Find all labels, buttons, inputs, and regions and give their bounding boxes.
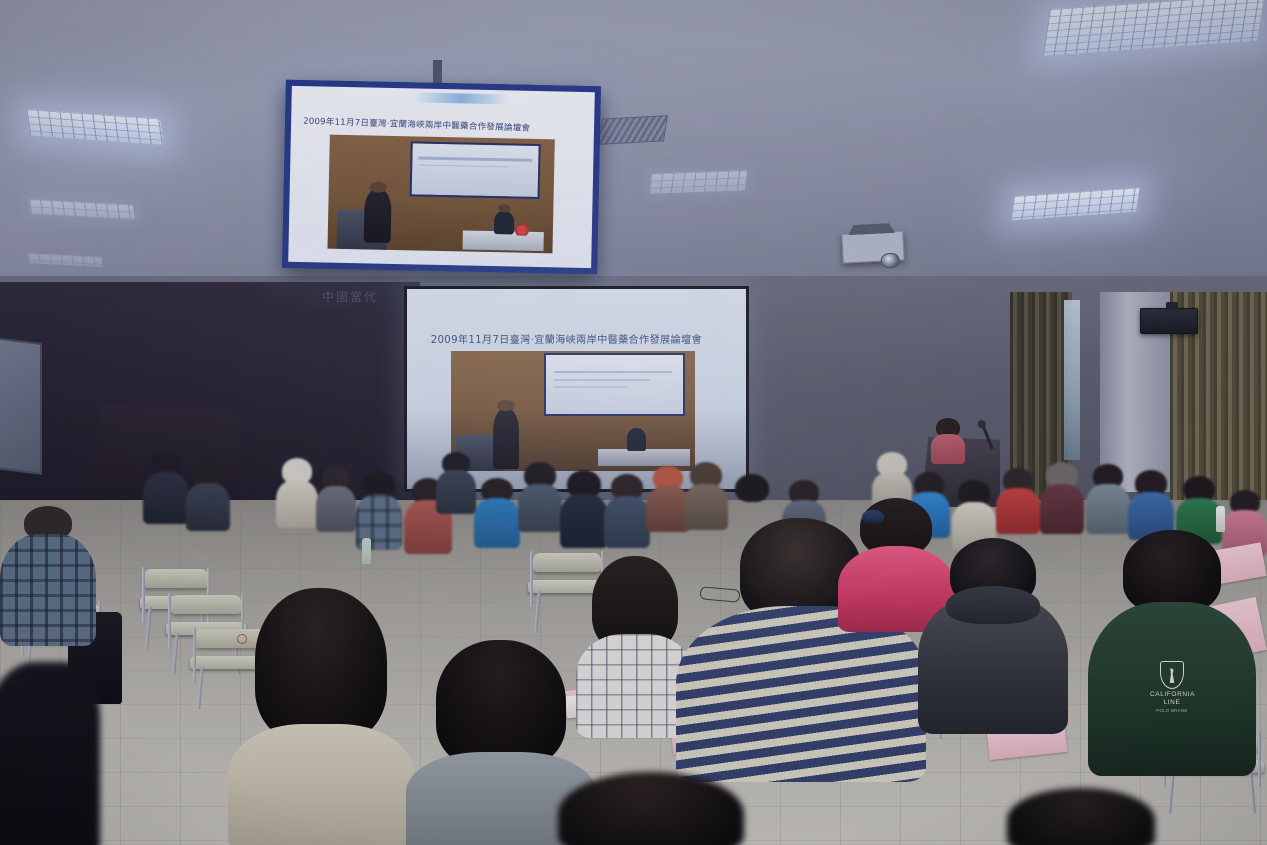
list-item xyxy=(474,478,520,544)
torso xyxy=(474,498,520,548)
torso xyxy=(316,486,356,532)
torso xyxy=(436,470,476,514)
drape-banner-text: 中國當代 xyxy=(322,288,378,305)
torso xyxy=(1086,484,1130,534)
shield-icon xyxy=(1160,661,1184,689)
projector-lens xyxy=(880,253,900,269)
person-foreground-head xyxy=(556,772,746,845)
tshirt-line-2: LINE xyxy=(1150,699,1194,707)
tv-screen: 2009年11月7日臺灣·宜蘭海峽兩岸中醫藥合作發展論壇會 xyxy=(288,86,595,268)
person-foreground-right xyxy=(1006,788,1156,845)
hoodie-hood xyxy=(946,586,1040,624)
chair-rail xyxy=(142,567,145,623)
ceiling-projector xyxy=(841,230,904,263)
woman-cream-sweater xyxy=(228,588,414,844)
tshirt-print: CALIFORNIA LINE POLO BRAND xyxy=(1150,661,1194,715)
chair-rail xyxy=(168,593,171,649)
torso xyxy=(143,472,189,524)
torso xyxy=(560,494,608,548)
tshirt-line-1: CALIFORNIA xyxy=(1150,691,1194,699)
conference-hall-photograph: 中國當代 2009年11月7日臺灣·宜蘭海峽兩岸中醫藥合作發展論壇會 200 xyxy=(0,0,1267,845)
chair-leg xyxy=(145,607,152,649)
tv-glare xyxy=(413,92,510,105)
torso xyxy=(1040,484,1084,534)
ceiling-light-panel xyxy=(1043,0,1265,56)
tv-slide-photo xyxy=(328,134,555,253)
tshirt-line-3: POLO BRAND xyxy=(1150,707,1194,715)
list-item xyxy=(518,462,562,526)
list-item xyxy=(1040,462,1084,528)
man-green-tshirt: CALIFORNIA LINE POLO BRAND xyxy=(1088,530,1256,770)
torso: CALIFORNIA LINE POLO BRAND xyxy=(1088,602,1256,776)
list-item xyxy=(560,470,608,542)
torso xyxy=(0,662,100,845)
nested-projection-screen xyxy=(410,142,541,200)
list-item xyxy=(186,463,230,527)
water-bottle xyxy=(362,538,371,564)
torso xyxy=(228,724,414,845)
torso xyxy=(996,488,1040,534)
chair-rail xyxy=(1258,731,1261,787)
chair-leg xyxy=(1249,771,1256,813)
list-item xyxy=(604,474,650,544)
list-item xyxy=(356,472,402,546)
chair-leg xyxy=(1169,771,1176,813)
list-item xyxy=(952,480,996,544)
hair xyxy=(436,640,566,768)
chair-back xyxy=(144,569,207,588)
ceiling-hung-flat-panel-tv: 2009年11月7日臺灣·宜蘭海峽兩岸中醫藥合作發展論壇會 xyxy=(282,80,601,275)
torso xyxy=(604,496,650,548)
hair xyxy=(1123,530,1221,612)
nested-flower-arrangement xyxy=(512,225,532,236)
torso xyxy=(518,484,562,532)
ceiling-light-panel xyxy=(1010,187,1139,220)
ceiling-light-panel xyxy=(26,109,163,145)
chair-rail xyxy=(193,627,196,683)
wall-speaker xyxy=(1140,308,1198,334)
person-plaid-shirt xyxy=(0,506,96,646)
ceiling-light-panel xyxy=(27,253,102,267)
list-item xyxy=(276,458,318,524)
ceiling-light-panel xyxy=(649,170,747,193)
person-dark-jacket xyxy=(0,662,100,845)
chair-leg xyxy=(172,633,179,675)
chair-rail xyxy=(530,551,533,607)
man-gray-hoodie xyxy=(918,538,1068,728)
tv-slide-title: 2009年11月7日臺灣·宜蘭海峽兩岸中醫藥合作發展論壇會 xyxy=(303,115,582,136)
list-item xyxy=(436,452,476,510)
list-item xyxy=(996,468,1040,530)
list-item xyxy=(1086,464,1130,530)
water-bottle xyxy=(1216,506,1225,532)
hair xyxy=(255,588,387,742)
list-item xyxy=(316,466,356,528)
torso xyxy=(186,483,230,531)
list-item xyxy=(143,452,189,522)
torso xyxy=(276,480,318,528)
list-item xyxy=(684,462,728,524)
list-item xyxy=(1128,470,1174,536)
nested-slide-line xyxy=(419,157,532,161)
projector-bracket xyxy=(848,223,895,235)
hair xyxy=(558,772,744,845)
hair xyxy=(1007,788,1155,845)
ceiling-air-vent xyxy=(598,115,668,145)
whiteboard xyxy=(0,337,42,475)
chair-leg xyxy=(534,591,541,633)
torso xyxy=(676,606,926,782)
speaker-at-podium xyxy=(930,418,966,462)
ceiling-light-panel xyxy=(29,199,135,220)
chair-leg xyxy=(197,667,204,709)
torso xyxy=(0,534,96,646)
window-slit xyxy=(1064,300,1080,460)
torso xyxy=(931,434,965,464)
hair-bow xyxy=(862,510,884,523)
nested-slide-line xyxy=(419,164,510,168)
nested-presenter xyxy=(364,190,392,243)
